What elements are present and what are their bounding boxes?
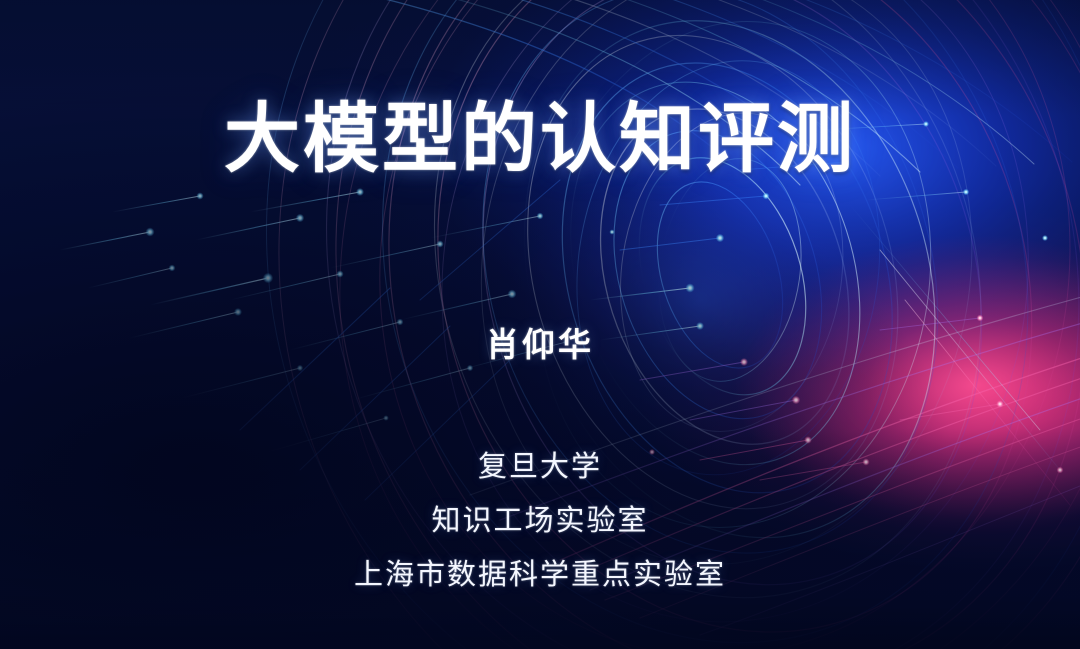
affiliation-line-university: 复旦大学 xyxy=(0,443,1080,485)
slide-content: 大模型的认知评测 肖仰华 复旦大学 知识工场实验室 上海市数据科学重点实验室 xyxy=(0,0,1080,649)
presenter-name: 肖仰华 xyxy=(0,318,1080,366)
presentation-slide: 大模型的认知评测 肖仰华 复旦大学 知识工场实验室 上海市数据科学重点实验室 xyxy=(0,0,1080,649)
page-title: 大模型的认知评测 xyxy=(0,100,1080,180)
affiliation-line-key-lab: 上海市数据科学重点实验室 xyxy=(0,551,1080,593)
affiliation-line-lab: 知识工场实验室 xyxy=(0,497,1080,539)
